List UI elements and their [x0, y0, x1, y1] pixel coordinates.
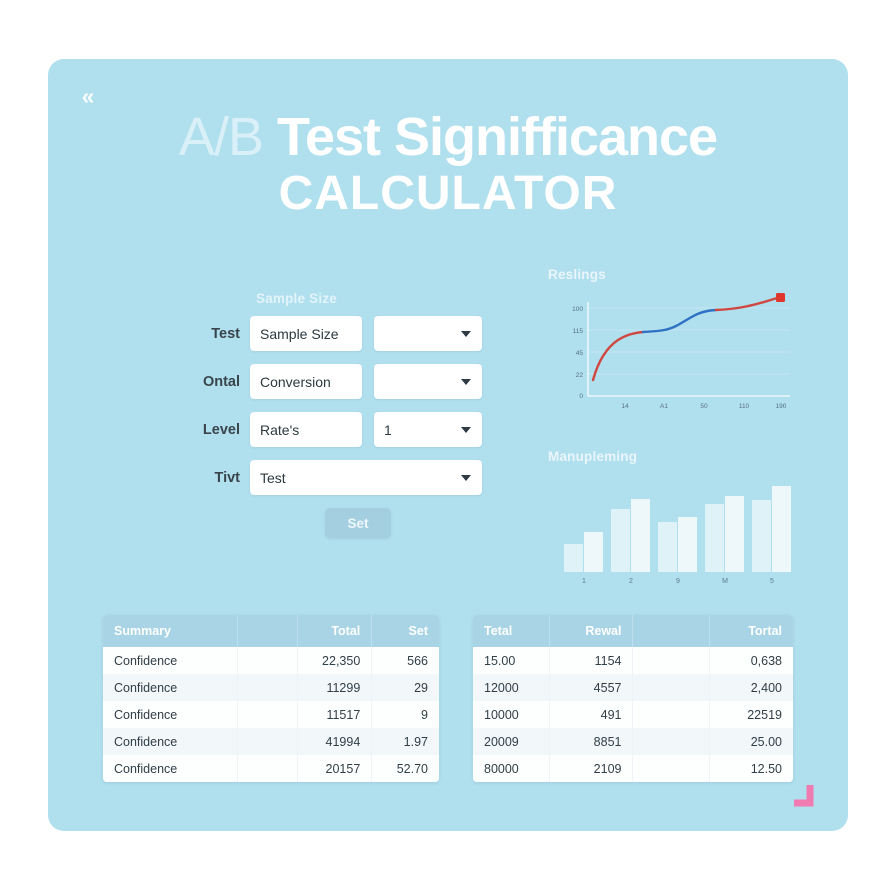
cell-blank: [237, 755, 297, 782]
table-row[interactable]: 15.00 1154 0,638: [473, 647, 793, 674]
select-level[interactable]: 1: [374, 412, 482, 447]
cell-label: Confidence: [103, 701, 237, 728]
cell-blank: [237, 674, 297, 701]
summary-table-header: Summary Total Set: [103, 615, 439, 647]
bar-chart-title: Manupleming: [548, 449, 796, 464]
cell-set: 1.97: [372, 728, 439, 755]
title-prefix: A/B: [179, 107, 277, 167]
cell-tortal: 25.00: [710, 728, 793, 755]
cell-set: 29: [372, 674, 439, 701]
cell-blank: [237, 728, 297, 755]
bar-chart-category-labels: 1 2 9 M 5: [582, 578, 774, 585]
summary-table: Summary Total Set Confidence 22,350 566 …: [103, 615, 439, 782]
results-col-blank[interactable]: [633, 615, 710, 647]
line-chart: 100 115 45 22 0 14 A1 50 110 190: [548, 290, 796, 415]
page-title: A/B Test Signifficance CALCULATOR: [48, 109, 848, 219]
cell-total: 20157: [298, 755, 372, 782]
form-row-tivt: Tivt Test: [168, 460, 508, 495]
form-actions: Set: [168, 508, 508, 538]
bar-chart-panel: Manupleming 1 2: [548, 449, 796, 586]
cell-tortal: 22519: [710, 701, 793, 728]
cell-label: Confidence: [103, 674, 237, 701]
table-header-row: Summary Total Set: [103, 615, 439, 647]
cell-tortal: 12.50: [710, 755, 793, 782]
cell-label: Confidence: [103, 728, 237, 755]
input-level[interactable]: [250, 412, 362, 447]
input-test[interactable]: [250, 316, 362, 351]
line-chart-xtick-labels: 14 A1 50 110 190: [621, 403, 786, 410]
calculator-form: Sample Size Test Ontal Level 1: [168, 291, 508, 538]
table-row[interactable]: Confidence 22,350 566: [103, 647, 439, 674]
svg-text:5: 5: [770, 578, 774, 585]
svg-text:14: 14: [621, 403, 629, 410]
svg-text:A1: A1: [660, 403, 668, 410]
summary-col-set[interactable]: Set: [372, 615, 439, 647]
table-row[interactable]: 10000 491 22519: [473, 701, 793, 728]
cell-tortal: 2,400: [710, 674, 793, 701]
select-ontal[interactable]: [374, 364, 482, 399]
cell-tetal: 15.00: [473, 647, 550, 674]
svg-text:100: 100: [572, 306, 583, 313]
cell-rewal: 2109: [550, 755, 633, 782]
select-tivt-value: Test: [260, 470, 286, 486]
svg-text:0: 0: [579, 393, 583, 400]
line-series-segment-red-start: [593, 332, 643, 380]
results-table-body: 15.00 1154 0,638 12000 4557 2,400 10000 …: [473, 647, 793, 782]
table-row[interactable]: Confidence 41994 1.97: [103, 728, 439, 755]
svg-text:M: M: [722, 578, 728, 585]
chevron-down-icon: [461, 475, 471, 481]
cell-tetal: 20009: [473, 728, 550, 755]
cell-blank: [633, 755, 710, 782]
cell-blank: [633, 647, 710, 674]
summary-col-total[interactable]: Total: [298, 615, 372, 647]
line-chart-title: Reslings: [548, 267, 796, 282]
table-row[interactable]: Confidence 11299 29: [103, 674, 439, 701]
cell-label: Confidence: [103, 755, 237, 782]
label-tivt: Tivt: [168, 470, 250, 486]
cell-tetal: 80000: [473, 755, 550, 782]
cell-rewal: 8851: [550, 728, 633, 755]
collapse-sidebar-icon[interactable]: «: [70, 81, 104, 111]
set-button[interactable]: Set: [325, 508, 391, 538]
svg-text:190: 190: [776, 403, 787, 410]
cell-blank: [237, 647, 297, 674]
summary-col-blank[interactable]: [237, 615, 297, 647]
cell-set: 9: [372, 701, 439, 728]
results-col-tortal[interactable]: Tortal: [710, 615, 793, 647]
svg-text:22: 22: [576, 372, 584, 379]
svg-text:50: 50: [700, 403, 708, 410]
line-chart-ytick-labels: 100 115 45 22 0: [572, 306, 583, 400]
cell-total: 11299: [298, 674, 372, 701]
table-header-row: Tetal Rewal Tortal: [473, 615, 793, 647]
cell-tetal: 12000: [473, 674, 550, 701]
table-row[interactable]: Confidence 20157 52.70: [103, 755, 439, 782]
select-tivt[interactable]: Test: [250, 460, 482, 495]
svg-text:2: 2: [629, 578, 633, 585]
cell-set: 52.70: [372, 755, 439, 782]
table-row[interactable]: 12000 4557 2,400: [473, 674, 793, 701]
table-row[interactable]: Confidence 11517 9: [103, 701, 439, 728]
table-row[interactable]: 80000 2109 12.50: [473, 755, 793, 782]
line-series-segment-blue: [643, 310, 716, 332]
svg-text:9: 9: [676, 578, 680, 585]
line-chart-axes: [588, 302, 790, 396]
results-col-tetal[interactable]: Tetal: [473, 615, 550, 647]
title-subline: CALCULATOR: [48, 169, 848, 219]
svg-text:110: 110: [739, 403, 750, 410]
form-row-test: Test: [168, 316, 508, 351]
summary-table-body: Confidence 22,350 566 Confidence 11299 2…: [103, 647, 439, 782]
svg-text:1: 1: [582, 578, 586, 585]
cell-tortal: 0,638: [710, 647, 793, 674]
cell-blank: [633, 701, 710, 728]
bar-chart-bars: [564, 486, 791, 572]
label-level: Level: [168, 422, 250, 438]
title-main: Test Signifficance: [277, 107, 717, 167]
cell-label: Confidence: [103, 647, 237, 674]
svg-text:115: 115: [573, 328, 584, 335]
form-heading: Sample Size: [256, 291, 508, 306]
form-row-ontal: Ontal: [168, 364, 508, 399]
cell-rewal: 491: [550, 701, 633, 728]
bar-chart: 1 2 9 M 5: [548, 474, 796, 586]
line-chart-panel: Reslings 100 115 45 22 0: [548, 267, 796, 415]
cell-blank: [633, 728, 710, 755]
results-col-rewal[interactable]: Rewal: [550, 615, 633, 647]
app-panel: « A/B Test Signifficance CALCULATOR Samp…: [48, 59, 848, 831]
cell-rewal: 4557: [550, 674, 633, 701]
chevron-down-icon: [461, 379, 471, 385]
select-test[interactable]: [374, 316, 482, 351]
results-table: Tetal Rewal Tortal 15.00 1154 0,638 1200…: [473, 615, 793, 782]
chevron-down-icon: [461, 331, 471, 337]
cell-total: 11517: [298, 701, 372, 728]
table-row[interactable]: 20009 8851 25.00: [473, 728, 793, 755]
cell-blank: [237, 701, 297, 728]
cell-rewal: 1154: [550, 647, 633, 674]
cell-tetal: 10000: [473, 701, 550, 728]
form-row-level: Level 1: [168, 412, 508, 447]
corner-bracket-icon: [790, 783, 816, 809]
cell-blank: [633, 674, 710, 701]
svg-text:45: 45: [576, 350, 584, 357]
cell-set: 566: [372, 647, 439, 674]
label-test: Test: [168, 326, 250, 342]
summary-col-summary[interactable]: Summary: [103, 615, 237, 647]
line-series-end-marker: [776, 293, 785, 302]
cell-total: 22,350: [298, 647, 372, 674]
label-ontal: Ontal: [168, 374, 250, 390]
chevron-down-icon: [461, 427, 471, 433]
input-ontal[interactable]: [250, 364, 362, 399]
cell-total: 41994: [298, 728, 372, 755]
select-level-value: 1: [384, 422, 392, 438]
results-table-header: Tetal Rewal Tortal: [473, 615, 793, 647]
